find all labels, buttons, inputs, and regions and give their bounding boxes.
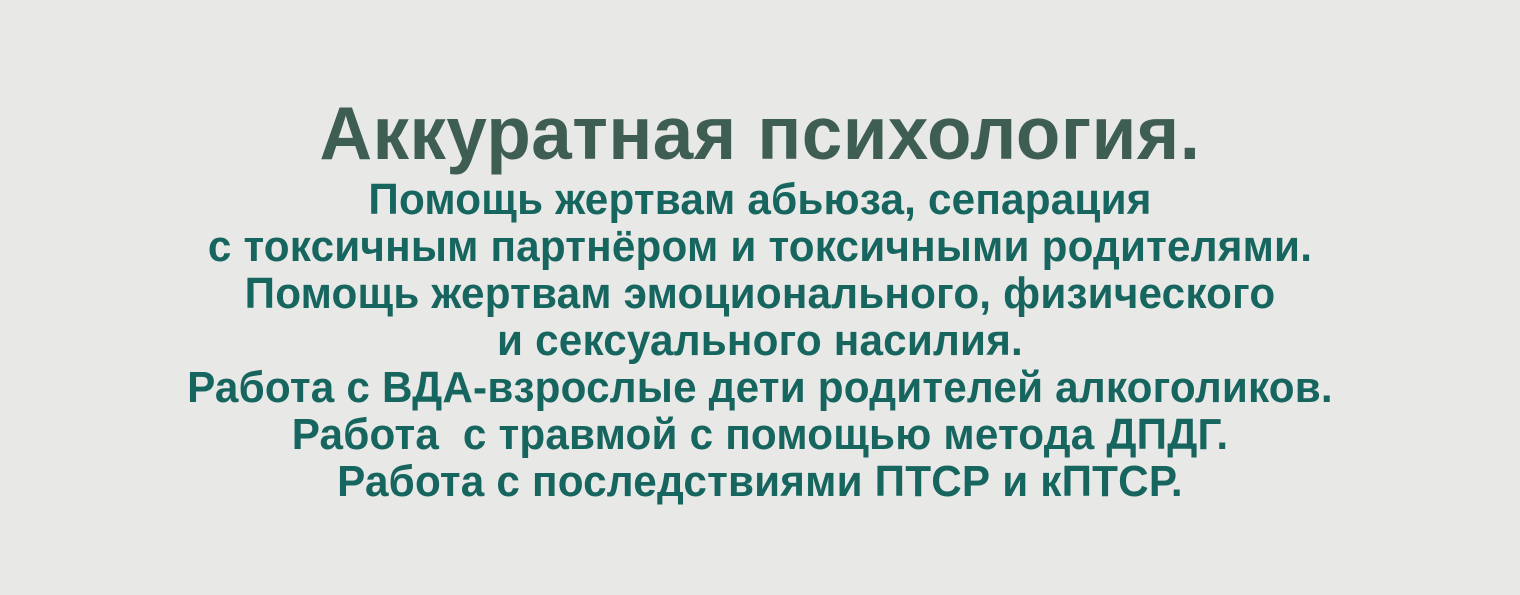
- service-line: с токсичным партнёром и токсичными родит…: [136, 223, 1384, 270]
- service-line: Работа с ВДА-взрослые дети родителей алк…: [136, 364, 1384, 411]
- services-list: Помощь жертвам абьюза, сепарация с токси…: [110, 176, 1410, 505]
- page-title: Аккуратная психология.: [320, 96, 1201, 171]
- service-line: Работа с травмой с помощью метода ДПДГ.: [136, 411, 1384, 458]
- poster-canvas: Аккуратная психология. Помощь жертвам аб…: [0, 0, 1520, 595]
- service-line: Работа с последствиями ПТСР и кПТСР.: [136, 458, 1384, 505]
- service-line: Помощь жертвам эмоционального, физическо…: [136, 270, 1384, 317]
- service-line: Помощь жертвам абьюза, сепарация: [136, 176, 1384, 223]
- service-line: и сексуального насилия.: [136, 317, 1384, 364]
